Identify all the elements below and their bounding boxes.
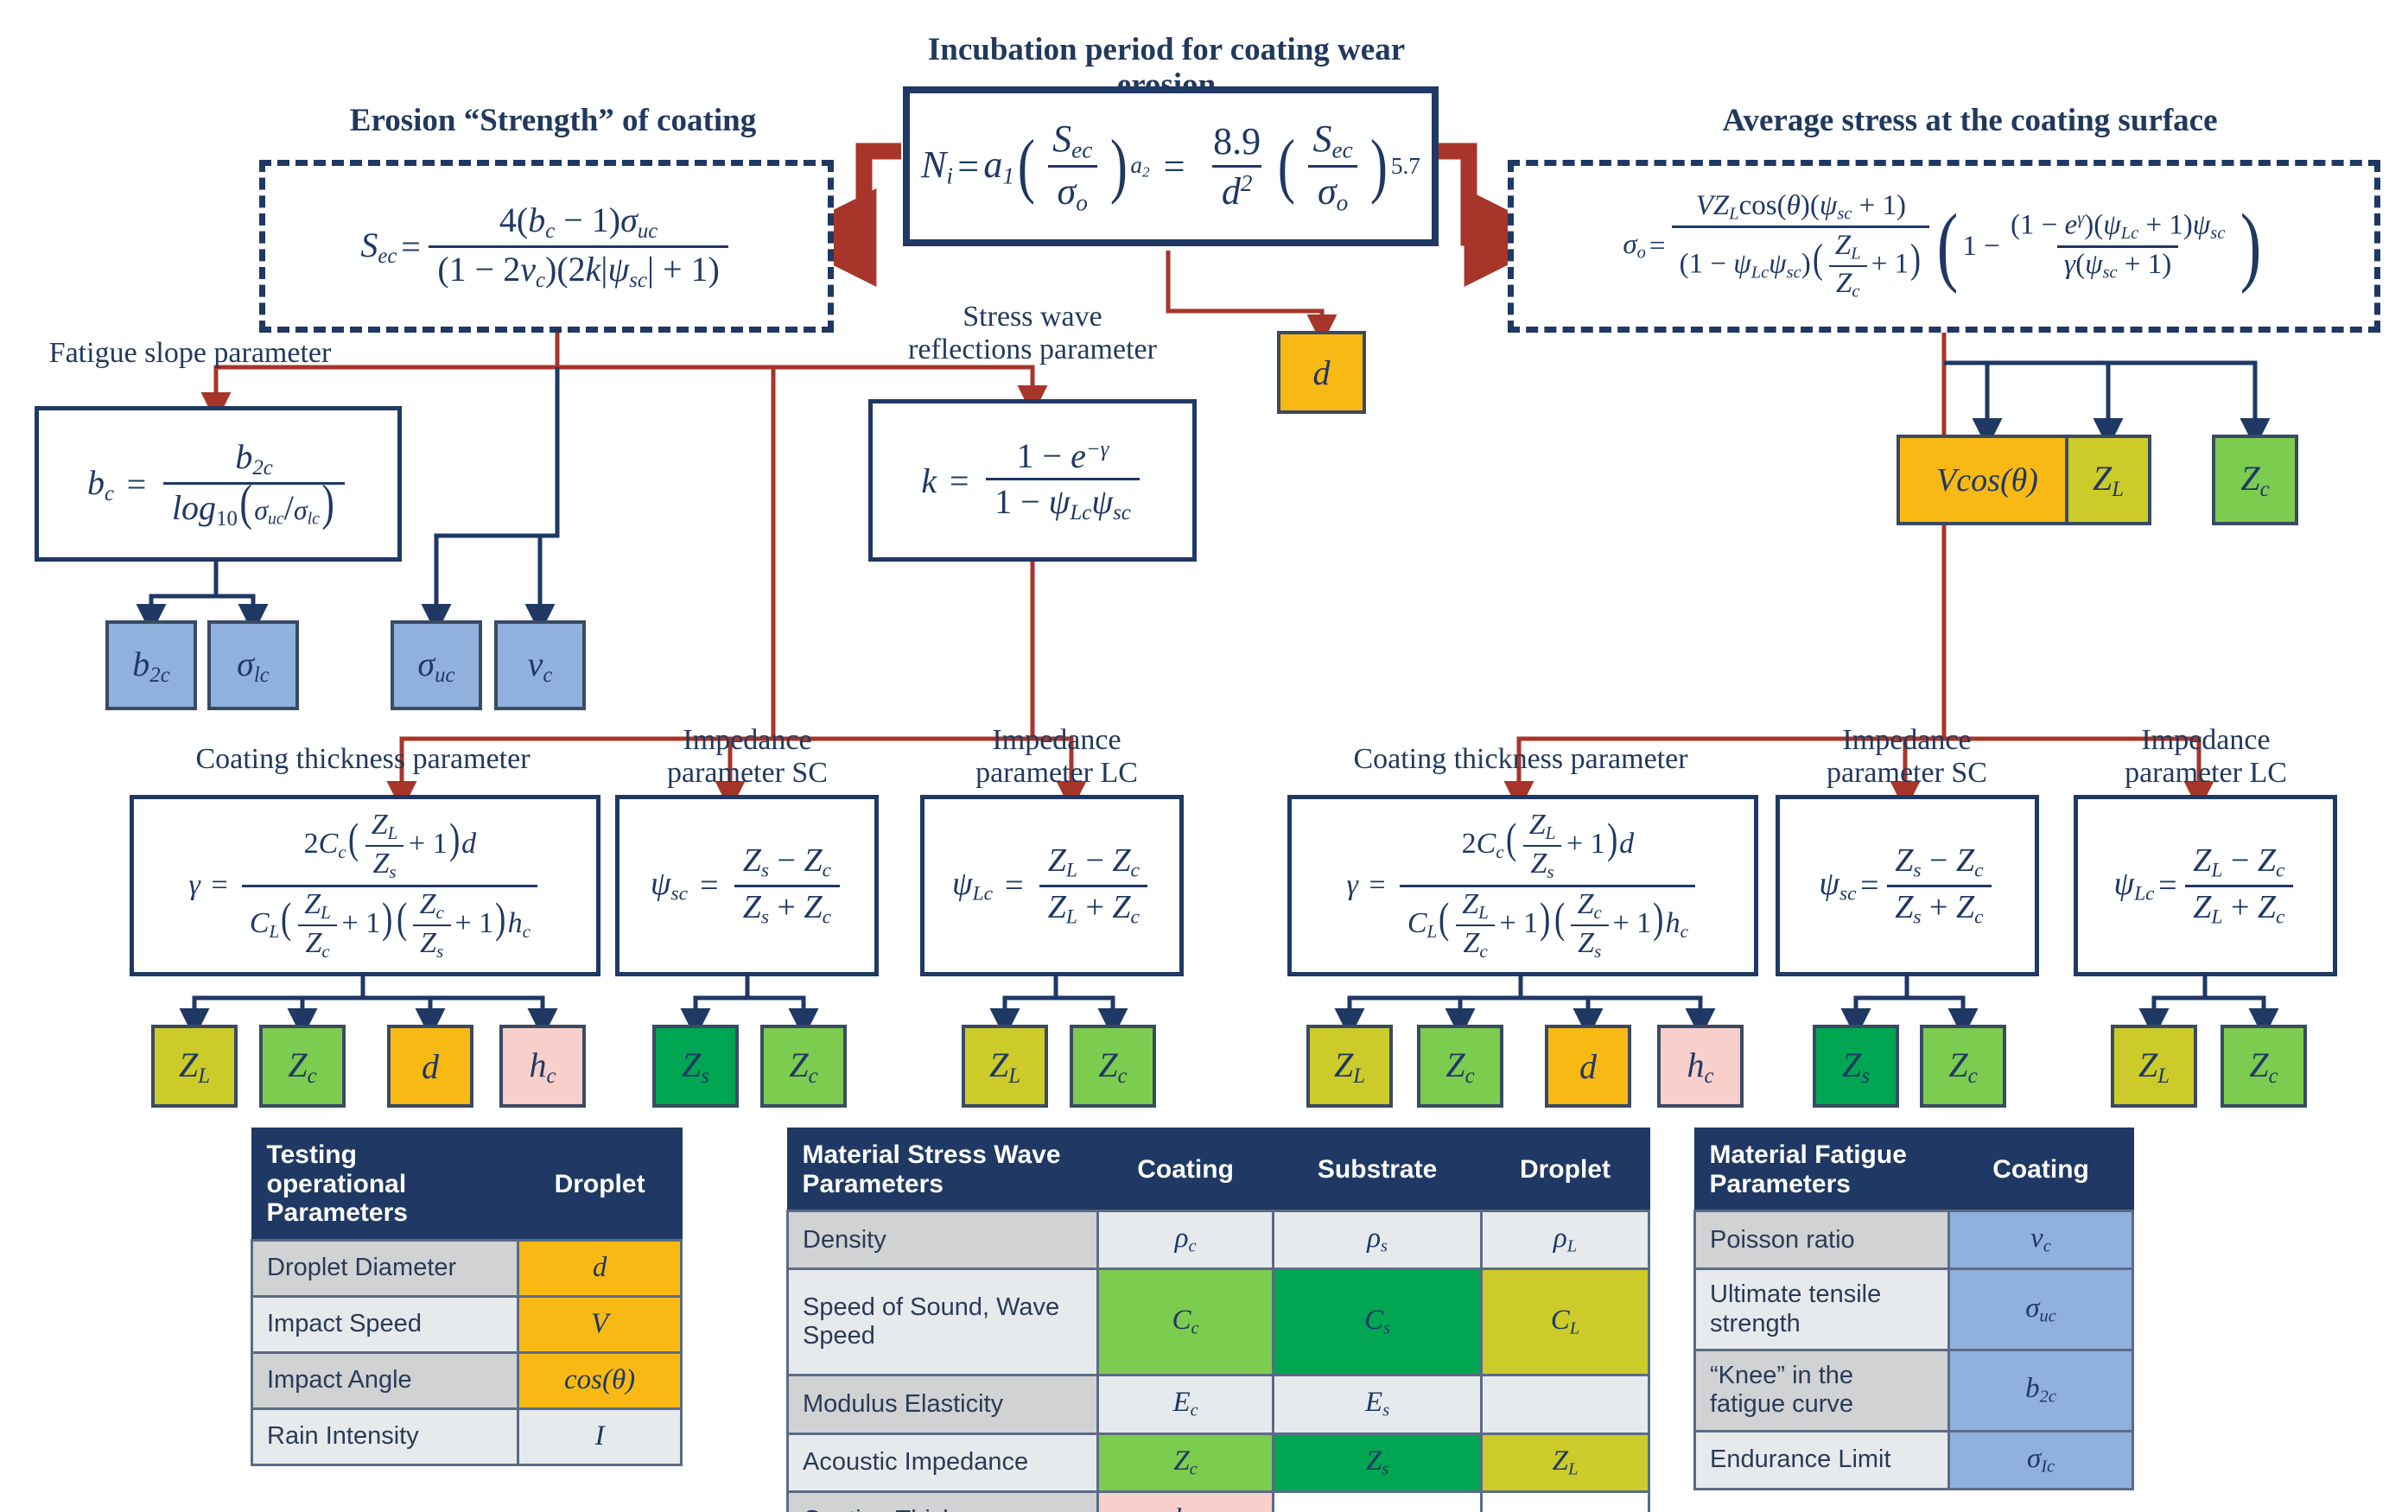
header-testing-params: Testing operational Parameters [252,1128,518,1240]
leaf-sigma-uc: σuc [391,620,482,710]
leaf-hc-gamma-left: hc [499,1025,586,1108]
cell-symbol: b2c [1949,1350,2133,1432]
cell-coating: Ec [1097,1375,1273,1433]
leaf-label: σlc [237,644,270,688]
leaf-label: νc [528,644,553,688]
leaf-label: Zc [288,1045,316,1089]
table-header-row: Testing operational Parameters Droplet [252,1128,682,1240]
table-row: “Knee” in the fatigue curve b2c [1695,1350,2133,1432]
leaf-label: Zc [1948,1045,1977,1089]
cell-coating: Zc [1097,1433,1273,1491]
leaf-nu-c: νc [494,620,586,710]
cell-name: Impact Angle [252,1352,518,1408]
equation-box-average-stress: σo= VZLcos(θ)(ψsc + 1) (1 − ψLcψsc)(ZLZc… [1508,160,2380,333]
leaf-zl-psilc-right: ZL [2111,1025,2197,1108]
cell-name: “Knee” in the fatigue curve [1695,1350,1949,1432]
header-droplet: Droplet [518,1128,682,1240]
equation-box-gamma-right: γ = 2Cc(ZLZs+ 1)d CL(ZLZc+ 1)(ZcZs+ 1)hc [1287,795,1758,976]
leaf-label: ZL [989,1045,1020,1089]
leaf-label: d [1579,1046,1597,1087]
leaf-zs-psisc-right: Zs [1813,1025,1899,1108]
table-row: Speed of Sound, Wave Speed Cc Cs CL [788,1269,1649,1375]
cell-name: Poisson ratio [1695,1211,1949,1269]
leaf-zc-psilc-right: Zc [2221,1025,2307,1108]
leaf-hc-gamma-right: hc [1657,1025,1744,1108]
header-fatigue-params: Material Fatigue Parameters [1695,1128,1949,1211]
leaf-b2c: b2c [105,620,197,710]
table-row: Impact Angle cos(θ) [252,1352,682,1408]
table-row: Droplet Diameter d [252,1240,682,1296]
leaf-droplet-diameter: d [1277,331,1366,414]
table-row: Acoustic Impedance Zc Zs ZL [788,1433,1649,1491]
cell-name: Speed of Sound, Wave Speed [788,1269,1098,1375]
label-impedance-lc-left: Impedanceparameter LC [949,724,1165,790]
cell-substrate: Cs [1274,1269,1482,1375]
cell-name: Density [788,1211,1098,1269]
table-row: Density ρc ρs ρL [788,1211,1649,1269]
cell-symbol: cos(θ) [518,1352,682,1408]
cell-name: Endurance Limit [1695,1431,1949,1489]
leaf-label: ZL [179,1045,210,1089]
header-stress-params: Material Stress Wave Parameters [788,1128,1098,1211]
leaf-d-gamma-right: d [1545,1025,1631,1108]
label-stress-wave-reflections: Stress wavereflections parameter [894,301,1171,366]
leaf-sigma-lc: σlc [207,620,299,710]
header-droplet: Droplet [1481,1128,1649,1211]
leaf-zl-gamma-right: ZL [1306,1025,1393,1108]
cell-substrate: Zs [1274,1433,1482,1491]
table-row: Coating Thickness hc [788,1491,1649,1512]
cell-symbol: νc [1949,1211,2133,1269]
leaf-label: Zc [2240,458,2269,502]
table-stress-wave-parameters: Material Stress Wave Parameters Coating … [786,1128,1650,1512]
table-header-row: Material Fatigue Parameters Coating [1695,1128,2133,1211]
label-impedance-sc-left: Impedanceparameter SC [639,724,855,790]
equation-box-erosion-strength: Sec= 4(bc − 1)σuc (1 − 2νc)(2k|ψsc| + 1) [259,160,834,333]
cell-symbol: σuc [1949,1269,2133,1350]
leaf-label: Vcos(θ) [1936,461,2038,499]
cell-name: Coating Thickness [788,1491,1098,1512]
diagram-canvas: Incubation period for coating wear erosi… [0,0,2408,1512]
cell-name: Droplet Diameter [252,1240,518,1296]
header-substrate: Substrate [1274,1128,1482,1211]
leaf-d-gamma-left: d [387,1025,473,1108]
table-row: Modulus Elasticity Ec Es [788,1375,1649,1433]
cell-symbol: V [518,1296,682,1352]
leaf-label: Zs [1842,1045,1870,1089]
leaf-label: ZL [1334,1045,1365,1089]
equation-box-fatigue-slope: bc = b2c log10(σuc/σlc) [35,406,402,562]
cell-droplet [1481,1375,1649,1433]
leaf-label: Zs [682,1045,709,1089]
cell-name: Modulus Elasticity [788,1375,1098,1433]
leaf-zl-stress: ZL [2065,435,2151,525]
equation-box-psi-lc-right: ψLc= ZL − Zc ZL + Zc [2074,795,2337,976]
label-coating-thickness-left: Coating thickness parameter [181,743,544,776]
cell-coating: Cc [1097,1269,1273,1375]
cell-droplet: ρL [1481,1211,1649,1269]
leaf-zl-gamma-left: ZL [151,1025,238,1108]
leaf-label: hc [529,1045,556,1089]
title-erosion-strength: Erosion “Strength” of coating [251,104,855,139]
cell-name: Ultimate tensile strength [1695,1269,1949,1350]
leaf-label: Zc [789,1045,817,1089]
leaf-label: hc [1687,1045,1713,1089]
table-row: Endurance Limit σIc [1695,1431,2133,1489]
leaf-zc-stress: Zc [2212,435,2298,525]
table-testing-parameters: Testing operational Parameters Droplet D… [251,1128,683,1466]
cell-droplet [1481,1491,1649,1512]
leaf-vcos-theta: Vcos(θ) [1897,435,2078,525]
label-impedance-sc-right: Impedanceparameter SC [1799,724,2015,790]
cell-droplet: ZL [1481,1433,1649,1491]
cell-symbol: σIc [1949,1431,2133,1489]
leaf-zc-psisc-left: Zc [760,1025,847,1108]
cell-coating: ρc [1097,1211,1273,1269]
equation-box-stress-wave: k = 1 − e−γ 1 − ψLcψsc [868,399,1197,562]
cell-name: Rain Intensity [252,1408,518,1464]
table-fatigue-parameters: Material Fatigue Parameters Coating Pois… [1693,1128,2134,1490]
title-average-stress: Average stress at the coating surface [1642,104,2298,139]
equation-box-gamma-left: γ = 2Cc(ZLZs+ 1)d CL(ZLZc+ 1)(ZcZs+ 1)hc [130,795,600,976]
leaf-label: ZL [2093,458,2124,502]
cell-symbol: I [518,1408,682,1464]
cell-substrate: Es [1274,1375,1482,1433]
leaf-label: Zc [1445,1045,1474,1089]
header-coating: Coating [1949,1128,2133,1211]
cell-substrate [1274,1491,1482,1512]
label-fatigue-slope: Fatigue slope parameter [9,337,372,370]
header-coating: Coating [1097,1128,1273,1211]
leaf-zc-psisc-right: Zc [1920,1025,2006,1108]
leaf-zs-psisc-left: Zs [652,1025,739,1108]
leaf-zc-psilc-left: Zc [1070,1025,1156,1108]
cell-symbol: d [518,1240,682,1296]
cell-coating: hc [1097,1491,1273,1512]
table-row: Rain Intensity I [252,1408,682,1464]
label-coating-thickness-right: Coating thickness parameter [1339,743,1702,776]
cell-name: Impact Speed [252,1296,518,1352]
equation-box-psi-lc-left: ψLc = ZL − Zc ZL + Zc [920,795,1184,976]
leaf-label: Zc [2249,1045,2278,1089]
leaf-zc-gamma-left: Zc [259,1025,346,1108]
table-header-row: Material Stress Wave Parameters Coating … [788,1128,1649,1211]
equation-box-psi-sc-left: ψsc = Zs − Zc Zs + Zc [615,795,879,976]
equation-box-psi-sc-right: ψsc= Zs − Zc Zs + Zc [1776,795,2039,976]
table-row: Poisson ratio νc [1695,1211,2133,1269]
leaf-label: b2c [132,644,169,688]
leaf-label: ZL [2138,1045,2170,1089]
leaf-label: d [422,1046,439,1087]
leaf-label: d [1313,353,1331,393]
leaf-label: σuc [417,644,454,688]
cell-name: Acoustic Impedance [788,1433,1098,1491]
label-impedance-lc-right: Impedanceparameter LC [2098,724,2314,790]
cell-substrate: ρs [1274,1211,1482,1269]
equation-box-incubation: Ni=a1 ( Secσo )a2 = 8.9d2 ( Secσo )5.7 [903,86,1439,246]
leaf-zc-gamma-right: Zc [1417,1025,1503,1108]
leaf-zl-psilc-left: ZL [962,1025,1048,1108]
leaf-label: Zc [1098,1045,1127,1089]
table-row: Impact Speed V [252,1296,682,1352]
cell-droplet: CL [1481,1269,1649,1375]
table-row: Ultimate tensile strength σuc [1695,1269,2133,1350]
